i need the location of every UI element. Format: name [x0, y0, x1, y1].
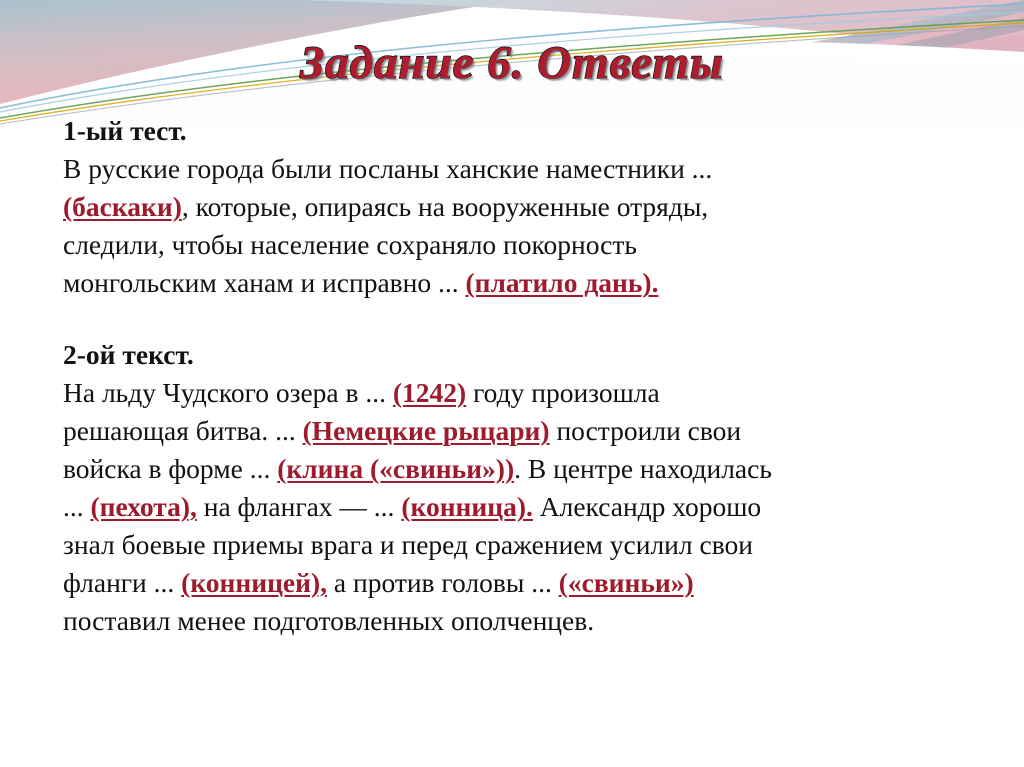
- text-line: На льду Чудского озера в ... (1242) году…: [63, 374, 963, 412]
- text-line: В русские города были посланы ханские на…: [63, 150, 963, 188]
- text-line: знал боевые приемы врага и перед сражени…: [63, 526, 963, 564]
- text-run: ...: [63, 491, 91, 522]
- text-run: а против головы ...: [327, 567, 559, 598]
- text-run: войска в форме ...: [63, 453, 277, 484]
- text-run: монгольским ханам и исправно ...: [63, 267, 465, 298]
- answer-highlight: (клина («свиньи»)): [277, 453, 514, 484]
- answer-highlight: («свиньи»): [559, 567, 694, 598]
- text-run: году произошла: [466, 377, 660, 408]
- text-line: войска в форме ... (клина («свиньи»)). В…: [63, 450, 963, 488]
- text-line: монгольским ханам и исправно ... (платил…: [63, 264, 963, 302]
- text-run: фланги ...: [63, 567, 181, 598]
- text-run: построили свои: [550, 415, 742, 446]
- text-line: фланги ... (конницей), а против головы .…: [63, 564, 963, 602]
- answer-highlight: (баскаки): [63, 191, 182, 222]
- text-run: следили, чтобы население сохраняло покор…: [63, 229, 637, 260]
- text-run: знал боевые приемы врага и перед сражени…: [63, 529, 753, 560]
- text-run: В русские города были посланы ханские на…: [63, 153, 712, 184]
- section-heading: 2-ой текст.: [63, 336, 963, 374]
- section-gap: [63, 302, 963, 336]
- text-run: решающая битва. ...: [63, 415, 303, 446]
- slide-body: 1-ый тест.В русские города были посланы …: [63, 112, 963, 640]
- answer-highlight: (платило дань).: [465, 267, 658, 298]
- text-run: Александр хорошо: [533, 491, 761, 522]
- text-run: , которые, опираясь на вооруженные отряд…: [182, 191, 708, 222]
- text-line: ... (пехота), на флангах — ... (конница)…: [63, 488, 963, 526]
- text-run: . В центре находилась: [514, 453, 772, 484]
- text-line: решающая битва. ... (Немецкие рыцари) по…: [63, 412, 963, 450]
- text-run: На льду Чудского озера в ...: [63, 377, 393, 408]
- text-line: (баскаки), которые, опираясь на вооружен…: [63, 188, 963, 226]
- answer-highlight: (пехота),: [91, 491, 197, 522]
- text-run: поставил менее подготовленных ополченцев…: [63, 605, 594, 636]
- answer-highlight: (1242): [393, 377, 466, 408]
- answer-highlight: (конница).: [401, 491, 533, 522]
- text-line: поставил менее подготовленных ополченцев…: [63, 602, 963, 640]
- text-line: следили, чтобы население сохраняло покор…: [63, 226, 963, 264]
- answer-highlight: (конницей),: [181, 567, 327, 598]
- page-title: Задание 6. Ответы: [0, 36, 1024, 90]
- slide-canvas: Задание 6. Ответы 1-ый тест.В русские го…: [0, 0, 1024, 767]
- answer-highlight: (Немецкие рыцари): [303, 415, 550, 446]
- text-run: на флангах — ...: [197, 491, 401, 522]
- section-heading: 1-ый тест.: [63, 112, 963, 150]
